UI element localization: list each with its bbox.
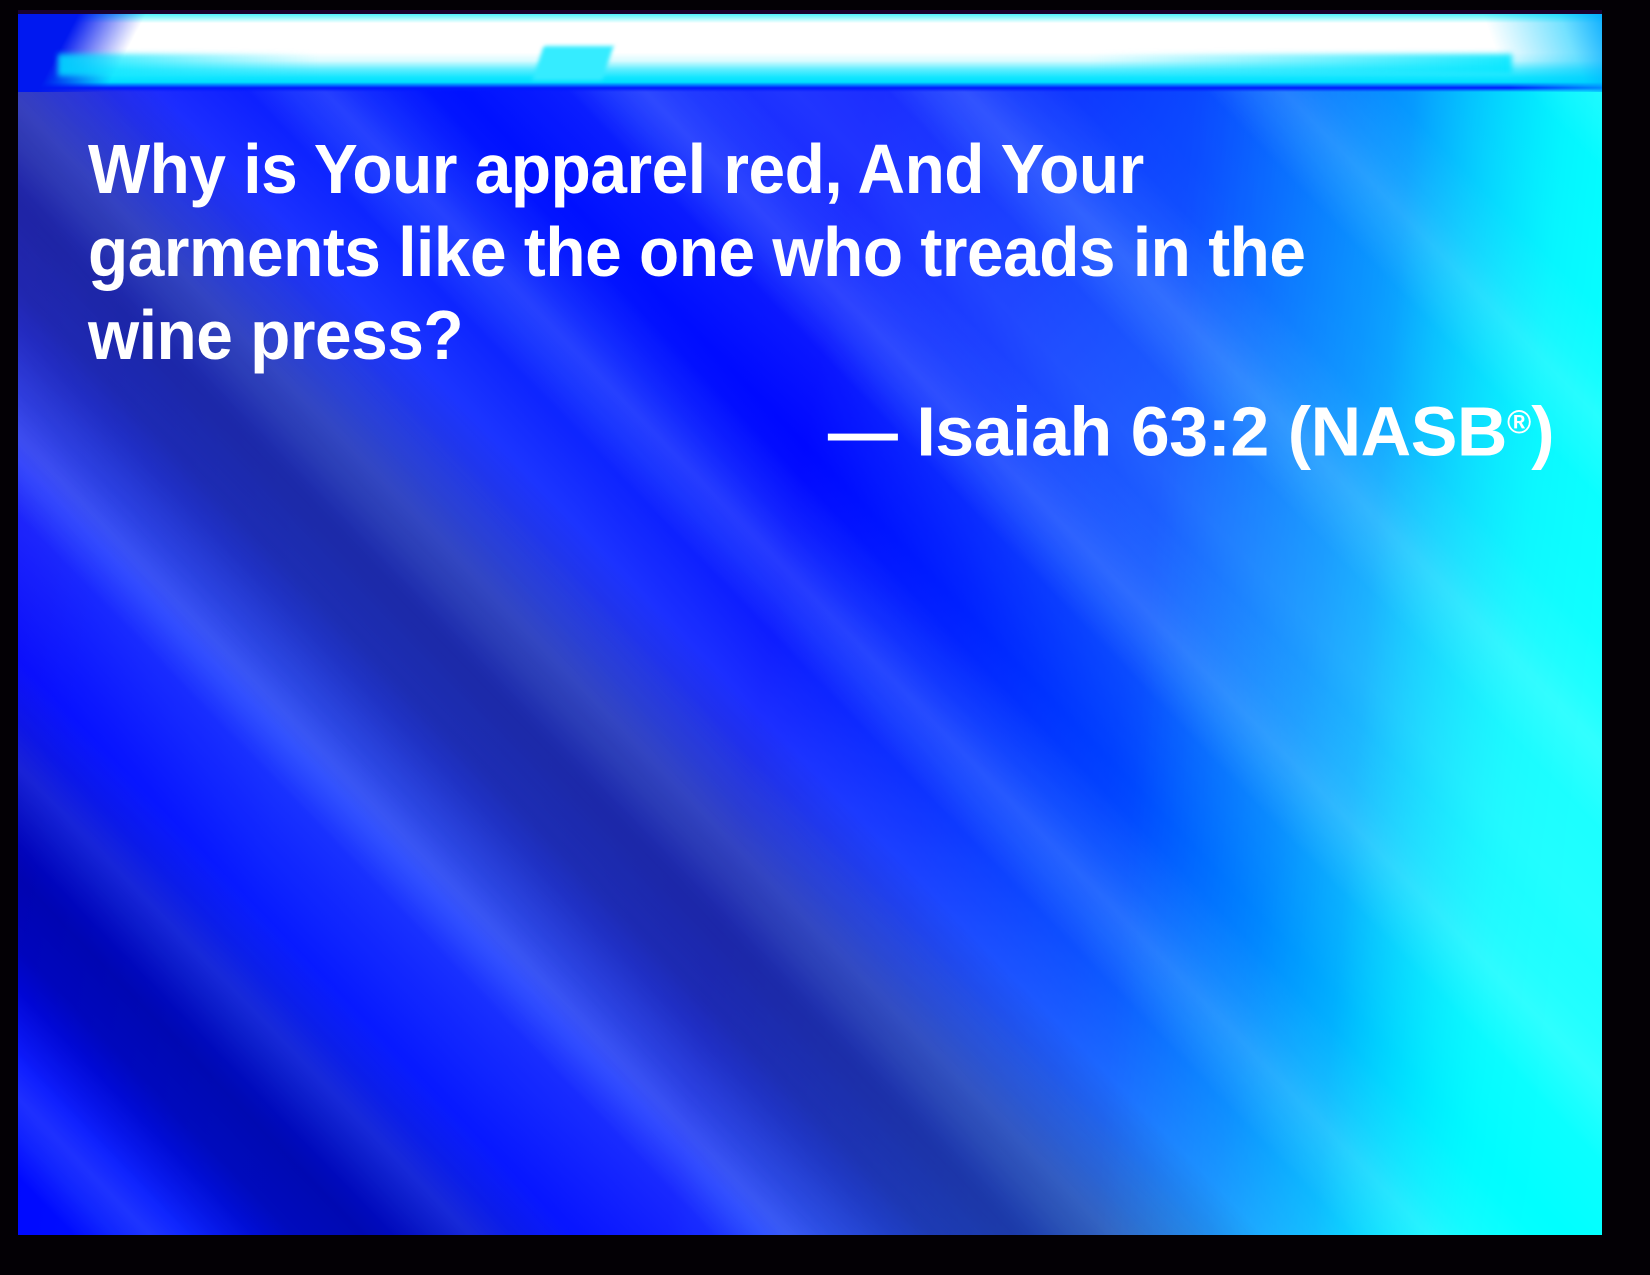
background-cyan-edge-glow — [18, 10, 1602, 1235]
top-glow-cyan-streak-left — [58, 54, 318, 76]
slide-picture-area: Why is Your apparel red, And Your garmen… — [18, 10, 1602, 1235]
verse-slide: Why is Your apparel red, And Your garmen… — [0, 0, 1650, 1275]
top-glow-right-wedge — [1412, 10, 1602, 92]
top-dark-edge-line — [18, 10, 1602, 14]
top-glow-cyan-streak-right — [1092, 54, 1512, 74]
top-glow-band — [18, 10, 1602, 92]
top-glow-left-wedge — [18, 10, 258, 92]
top-glow-cyan-notch — [532, 46, 613, 80]
